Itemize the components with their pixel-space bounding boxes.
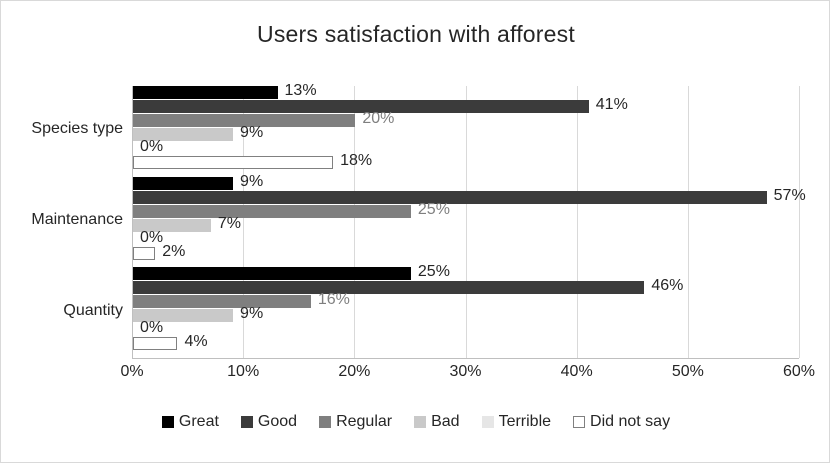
bar-row: 0% [133,323,799,336]
x-tick-label: 10% [227,363,259,381]
legend-item-regular[interactable]: Regular [319,413,392,431]
legend-swatch-icon [319,416,331,428]
legend-label: Terrible [499,413,551,431]
bar-value-label: 20% [362,110,394,128]
bar-row: 46% [133,281,799,294]
x-tick-label: 60% [783,363,815,381]
x-tick-label: 30% [449,363,481,381]
bar-value-label: 7% [218,215,241,233]
legend-swatch-icon [573,416,585,428]
bar-did-not-say-quantity[interactable] [133,337,177,350]
legend-label: Regular [336,413,392,431]
bar-great-quantity[interactable] [133,267,411,280]
bar-row: 13% [133,86,799,99]
bar-group-quantity: 25%46%16%9%0%4% [133,267,799,351]
x-axis-tick-labels: 0%10%20%30%40%50%60% [132,363,799,387]
x-tick-label: 40% [561,363,593,381]
bar-row: 4% [133,337,799,350]
legend-item-great[interactable]: Great [162,413,219,431]
bar-value-label: 9% [240,173,263,191]
bar-value-label: 46% [651,277,683,295]
category-axis-labels: Species typeMaintenanceQuantity [1,86,123,358]
legend-swatch-icon [162,416,174,428]
gridline-60 [799,86,800,358]
bar-row: 2% [133,247,799,260]
bar-value-label: 9% [240,124,263,142]
bar-value-label: 25% [418,263,450,281]
bar-value-label: 57% [774,187,806,205]
legend-item-terrible[interactable]: Terrible [482,413,551,431]
legend-item-good[interactable]: Good [241,413,297,431]
bar-value-label: 16% [318,291,350,309]
bar-value-label: 0% [140,319,163,337]
plot-area: 13%41%20%9%0%18%9%57%25%7%0%2%25%46%16%9… [132,86,799,358]
bar-regular-maintenance[interactable] [133,205,411,218]
bar-row: 16% [133,295,799,308]
chart-legend: GreatGoodRegularBadTerribleDid not say [1,413,830,431]
bar-row: 41% [133,100,799,113]
bar-row: 57% [133,191,799,204]
x-tick-label: 50% [672,363,704,381]
bar-great-maintenance[interactable] [133,177,233,190]
legend-item-bad[interactable]: Bad [414,413,459,431]
category-label-species-type: Species type [3,120,123,138]
bar-value-label: 13% [285,82,317,100]
bar-value-label: 0% [140,138,163,156]
bar-value-label: 25% [418,201,450,219]
bar-row: 9% [133,177,799,190]
category-label-quantity: Quantity [3,302,123,320]
bar-row: 25% [133,267,799,280]
bar-row: 7% [133,219,799,232]
bar-value-label: 0% [140,229,163,247]
bar-value-label: 2% [162,243,185,261]
bar-value-label: 4% [184,333,207,351]
legend-swatch-icon [414,416,426,428]
bar-row: 9% [133,309,799,322]
legend-label: Did not say [590,413,670,431]
bar-regular-quantity[interactable] [133,295,311,308]
bar-did-not-say-maintenance[interactable] [133,247,155,260]
legend-label: Great [179,413,219,431]
bar-value-label: 18% [340,152,372,170]
bar-row: 0% [133,142,799,155]
chart-container: Users satisfaction with afforest Species… [0,0,830,463]
legend-label: Good [258,413,297,431]
category-label-maintenance: Maintenance [3,211,123,229]
bar-value-label: 41% [596,96,628,114]
legend-label: Bad [431,413,459,431]
chart-title: Users satisfaction with afforest [1,21,830,48]
legend-swatch-icon [482,416,494,428]
legend-item-did-not-say[interactable]: Did not say [573,413,670,431]
bar-value-label: 9% [240,305,263,323]
bar-row: 0% [133,233,799,246]
bar-good-species-type[interactable] [133,100,589,113]
bar-good-quantity[interactable] [133,281,644,294]
bar-great-species-type[interactable] [133,86,278,99]
bar-row: 20% [133,114,799,127]
bar-group-maintenance: 9%57%25%7%0%2% [133,177,799,261]
bar-did-not-say-species-type[interactable] [133,156,333,169]
x-tick-label: 0% [120,363,143,381]
bar-row: 18% [133,156,799,169]
bar-row: 9% [133,128,799,141]
x-axis-line [132,358,799,359]
legend-swatch-icon [241,416,253,428]
bar-group-species-type: 13%41%20%9%0%18% [133,86,799,170]
x-tick-label: 20% [338,363,370,381]
